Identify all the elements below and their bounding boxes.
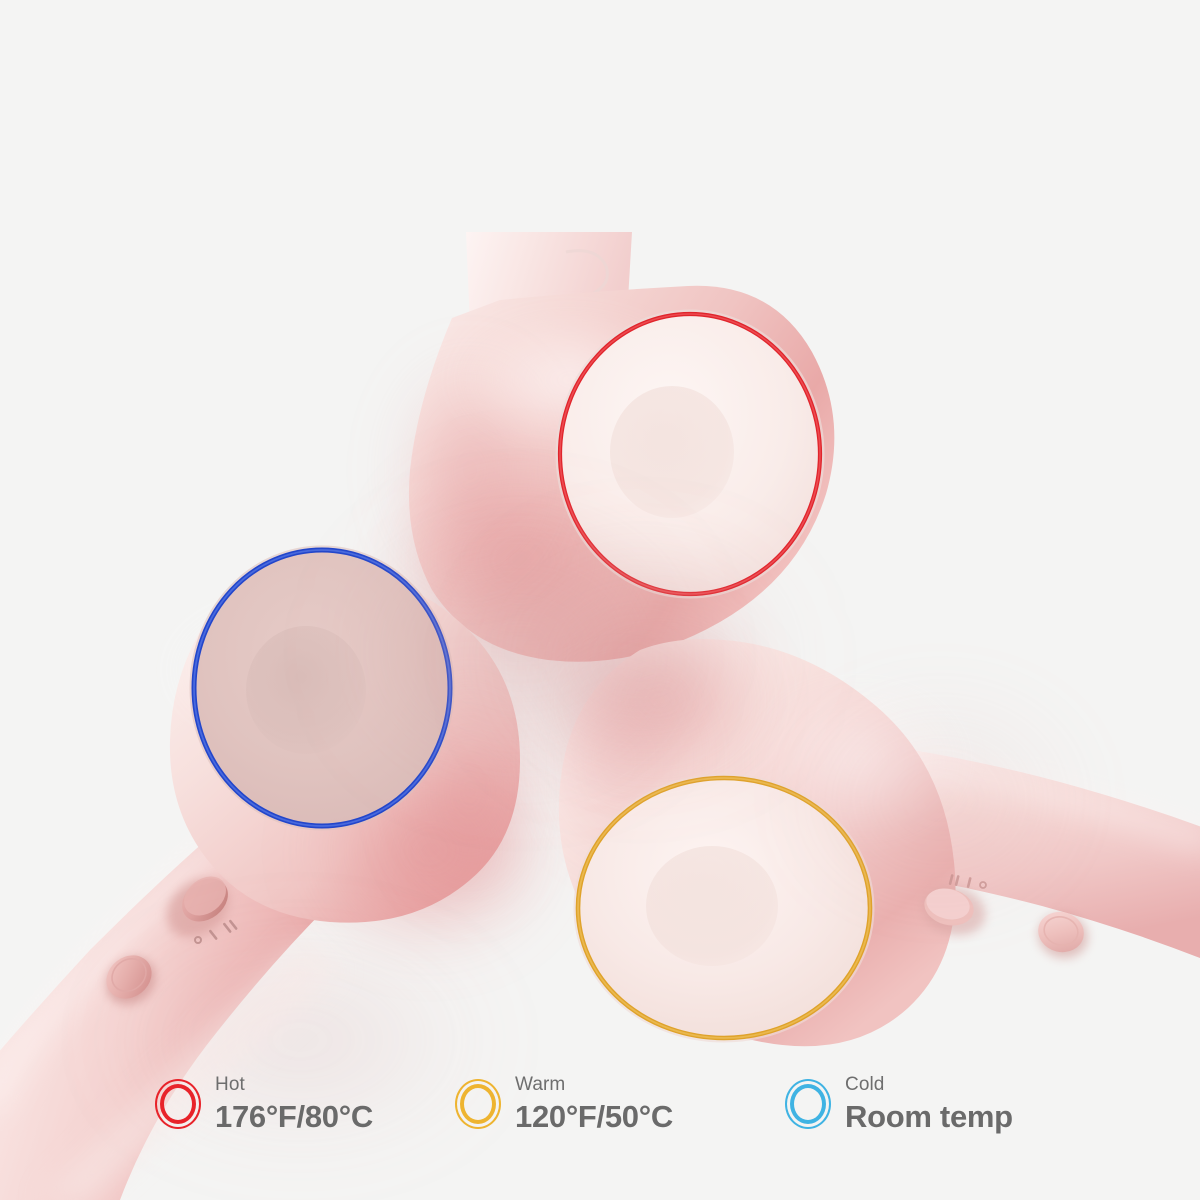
product-photo-hair-dryers [0,0,1200,1200]
legend-value-warm: 120°F/50°C [515,1101,673,1132]
legend-item-warm: Warm 120°F/50°C [455,1075,785,1132]
legend-text-warm: Warm 120°F/50°C [515,1075,673,1132]
legend-item-cold: Cold Room temp [785,1075,1085,1132]
ring-icon-warm [455,1079,501,1129]
legend-value-hot: 176°F/80°C [215,1101,373,1132]
ring-icon-hot [155,1079,201,1129]
product-marketing-image: Know The Temperature At A Glance. [0,0,1200,1200]
legend-label-warm: Warm [515,1075,673,1094]
ring-icon-cold [785,1079,831,1129]
legend-item-hot: Hot 176°F/80°C [155,1075,455,1132]
temperature-legend: Hot 176°F/80°C Warm 120°F/50°C Cold Room… [0,1075,1200,1175]
legend-label-hot: Hot [215,1075,373,1094]
legend-text-cold: Cold Room temp [845,1075,1013,1132]
legend-text-hot: Hot 176°F/80°C [215,1075,373,1132]
legend-label-cold: Cold [845,1075,1013,1094]
legend-value-cold: Room temp [845,1101,1013,1132]
